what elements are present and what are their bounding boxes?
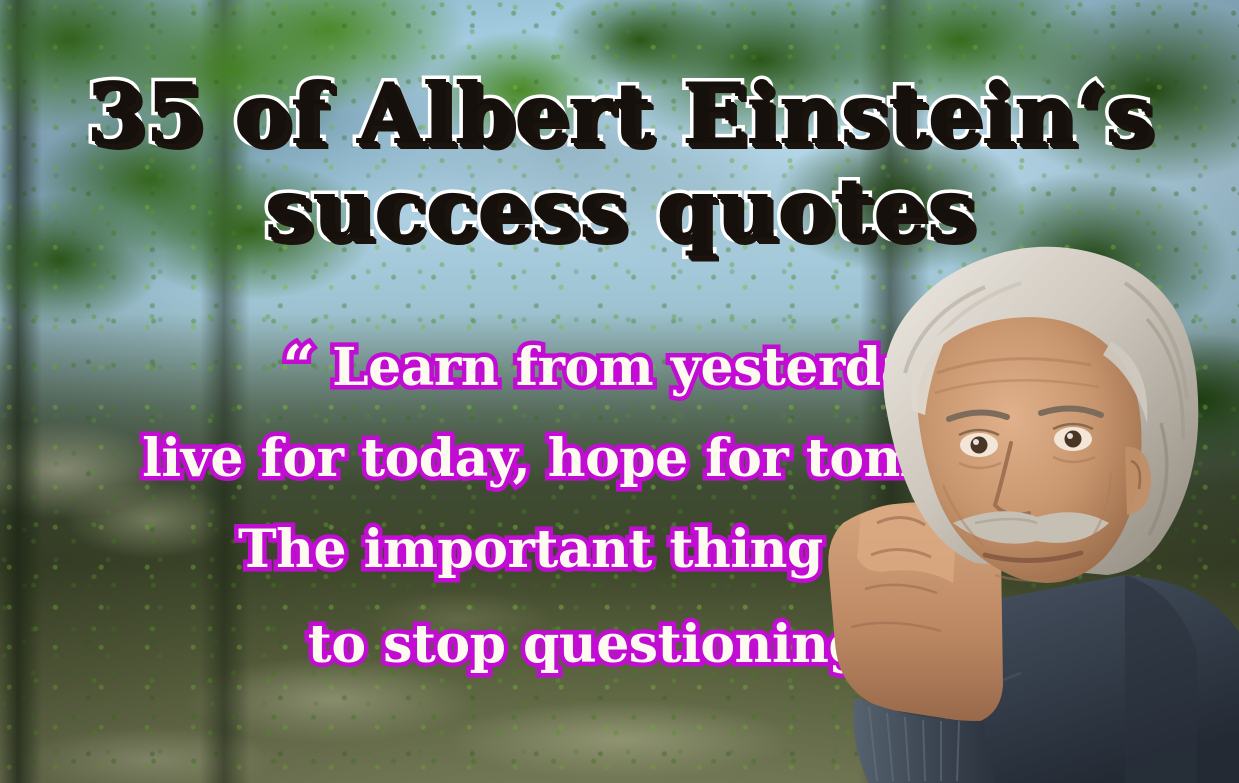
quote-line-4-text: to stop questioning. [308,614,882,675]
title-line-1: 35 of Albert Einstein‘s [0,74,1239,155]
open-quote-mark: “ [283,333,315,399]
einstein-portrait [825,223,1239,783]
quote-poster: 35 of Albert Einstein‘s success quotes “… [0,0,1239,783]
